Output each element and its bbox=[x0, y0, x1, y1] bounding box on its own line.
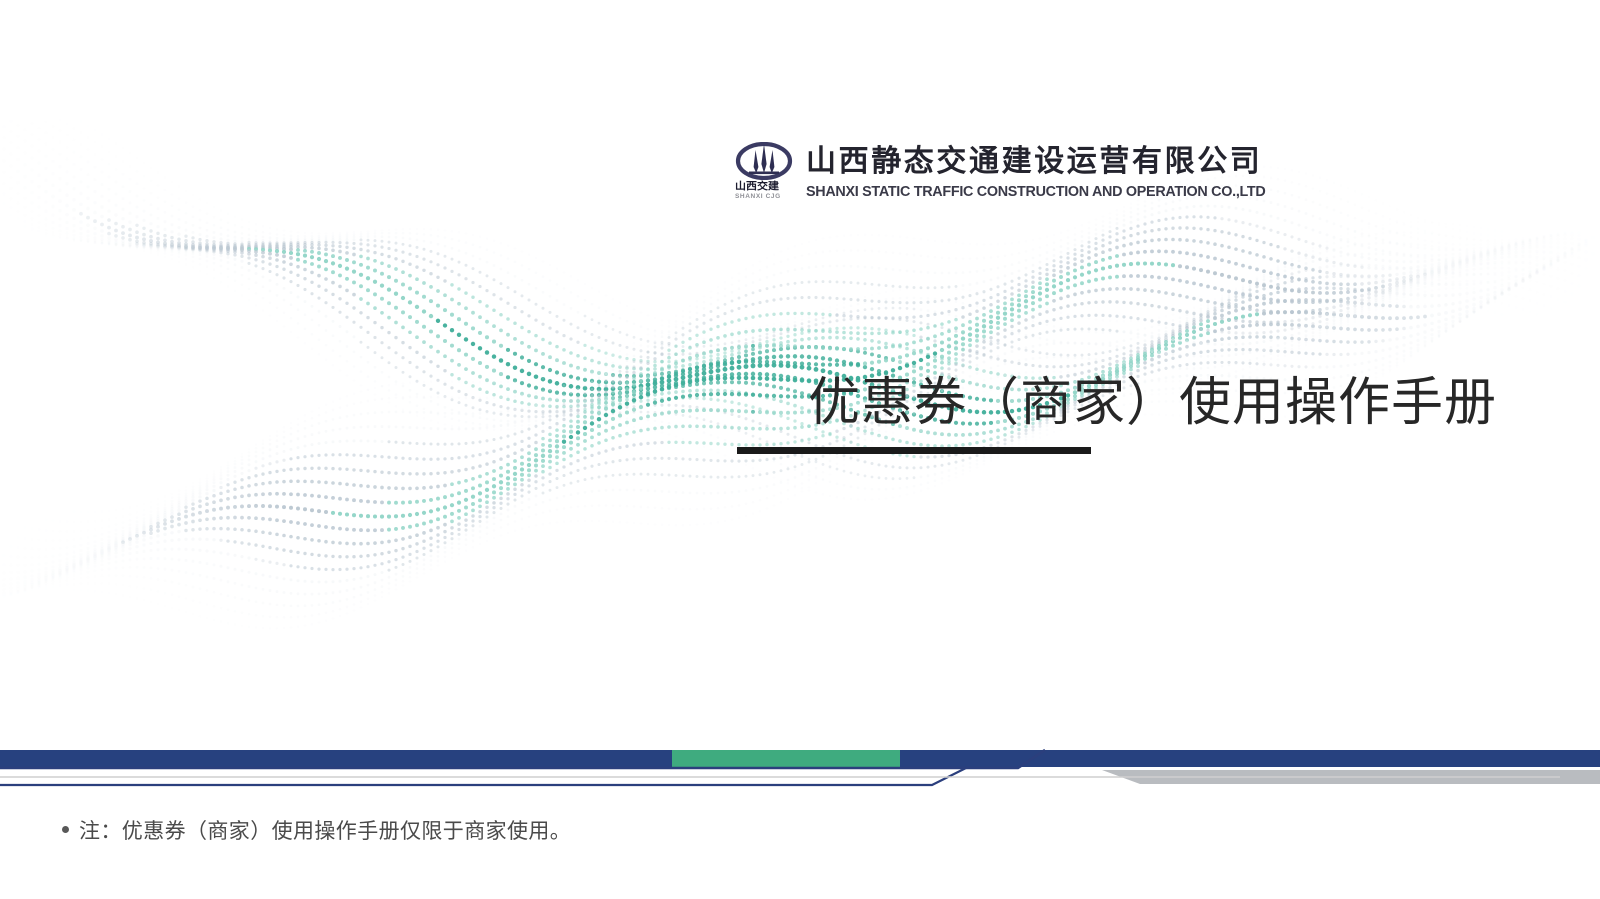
green-bar-segment bbox=[672, 750, 900, 767]
footer-deco-graphic bbox=[0, 722, 1600, 790]
logo-mark: 山西交建 SHANXI CJG bbox=[735, 142, 797, 208]
company-name-cn: 山西静态交通建设运营有限公司 bbox=[806, 143, 1270, 180]
bullet-dot-icon bbox=[62, 826, 69, 833]
footer-decoration bbox=[0, 722, 1600, 790]
page-title: 优惠券（商家）使用操作手册 bbox=[808, 368, 1497, 438]
footnote-text: 注：优惠券（商家）使用操作手册仅限于商家使用。 bbox=[79, 818, 571, 846]
logo-text-block: 山西静态交通建设运营有限公司 SHANXI STATIC TRAFFIC CON… bbox=[806, 142, 1270, 202]
company-logo-lockup: 山西交建 SHANXI CJG 山西静态交通建设运营有限公司 SHANXI ST… bbox=[735, 142, 1270, 208]
company-name-en: SHANXI STATIC TRAFFIC CONSTRUCTION AND O… bbox=[806, 182, 1265, 202]
title-underline-rule bbox=[737, 447, 1091, 454]
document-title-area: 优惠券（商家）使用操作手册 bbox=[0, 368, 1497, 438]
logo-mark-en: SHANXI CJG bbox=[735, 193, 797, 201]
footnote-row: 注：优惠券（商家）使用操作手册仅限于商家使用。 bbox=[62, 818, 571, 846]
company-emblem-icon bbox=[735, 142, 793, 180]
logo-mark-cn: 山西交建 bbox=[735, 181, 797, 192]
document-page: 山西交建 SHANXI CJG 山西静态交通建设运营有限公司 SHANXI ST… bbox=[0, 0, 1600, 899]
